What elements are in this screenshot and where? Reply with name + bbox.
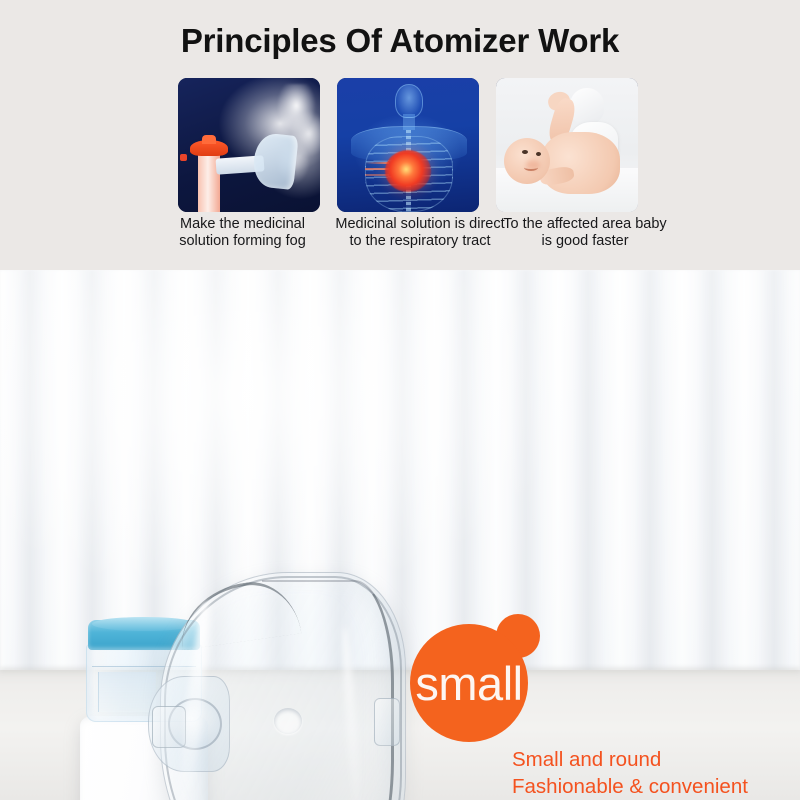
tank-fill-level [98,672,156,712]
principles-panel: Principles Of Atomizer Work [0,0,800,270]
step-image-baby [496,78,638,212]
affected-area-highlight [385,150,431,192]
xray-head [395,84,423,118]
product-photo: small Small and round Fashionable & conv… [0,270,800,800]
nebulizer-knob [202,135,216,144]
baby-eye-left [522,150,528,154]
step-caption-baby: To the affected area baby is good faster [500,216,670,250]
mask-strap-clip-left [152,706,186,748]
step-caption-fog: Make the medicinal solution forming fog [160,216,325,250]
steps-thumbnail-row [178,78,638,212]
step-image-fog [178,78,320,212]
step-caption-respiratory: Medicinal solution is direct to the resp… [330,216,510,250]
feature-list: Small and round Fashionable & convenient… [512,747,794,800]
feature-item: Fashionable & convenient [512,774,794,800]
baby-smile [524,164,538,171]
feature-item: Small and round [512,747,794,774]
mask-strap-clip-right [374,698,400,746]
mask-vent-hole [274,708,302,734]
transparent-face-mask [150,566,412,800]
steps-caption-row: Make the medicinal solution forming fog … [0,216,800,270]
small-badge: small [410,612,540,742]
page-title: Principles Of Atomizer Work [0,22,800,60]
indicator-dot-icon [180,154,187,161]
badge-label: small [410,624,528,742]
baby-sock [570,88,604,124]
step-image-respiratory [337,78,479,212]
baby-eye-right [536,152,541,156]
product-infographic: Principles Of Atomizer Work [0,0,800,800]
